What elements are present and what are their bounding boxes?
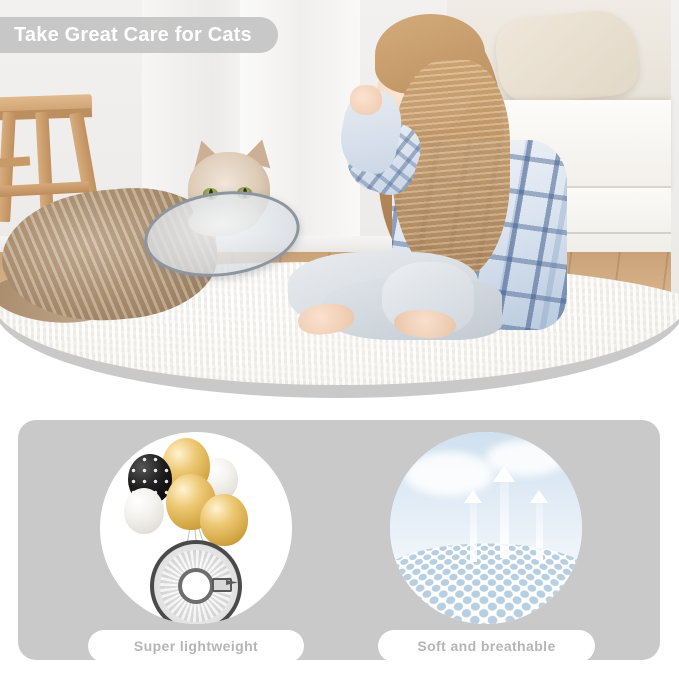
- hero-photo-clip: [0, 0, 679, 385]
- feature-icon-lightweight: [100, 432, 292, 624]
- airflow-arrow-center-head: [493, 466, 515, 482]
- feature-label-text: Soft and breathable: [417, 638, 555, 654]
- balloon-white-left: [124, 488, 164, 534]
- airflow-arrow-right-stem: [536, 502, 543, 560]
- cone-center-hole: [178, 568, 214, 604]
- airflow-arrow-right-head: [530, 490, 548, 503]
- feature-label-text: Super lightweight: [134, 638, 258, 654]
- airflow-arrow-left-stem: [470, 502, 477, 562]
- airflow-arrow-left-head: [464, 490, 482, 503]
- hero-photo: [0, 0, 679, 400]
- girl-hand: [350, 85, 382, 115]
- cone-buckle: [212, 578, 232, 592]
- airflow-arrow-center-stem: [500, 480, 509, 558]
- honeycomb-mesh: [390, 543, 582, 624]
- feature-label-lightweight: Super lightweight: [88, 630, 304, 662]
- title-banner: Take Great Care for Cats: [0, 17, 278, 53]
- feature-label-breathable: Soft and breathable: [378, 630, 595, 662]
- banner-title: Take Great Care for Cats: [14, 24, 252, 47]
- balloon-gold-right: [200, 494, 248, 546]
- sofa-cushion: [493, 7, 641, 107]
- feature-icon-breathable: [390, 432, 582, 624]
- honeycomb-cells: [390, 543, 582, 624]
